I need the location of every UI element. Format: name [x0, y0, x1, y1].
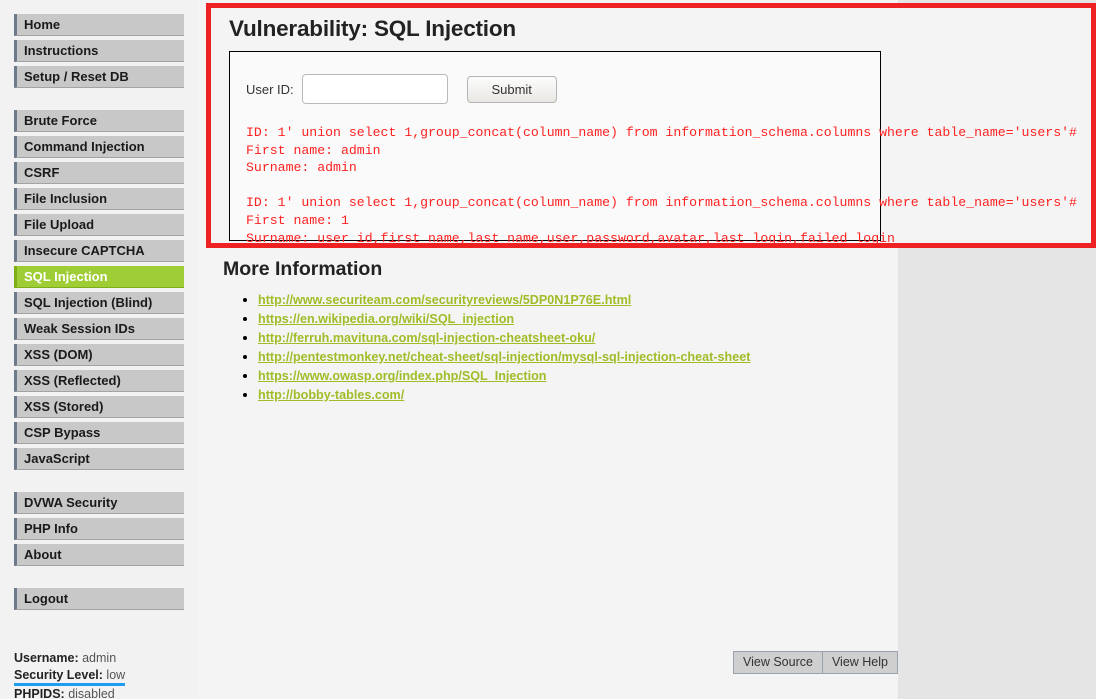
sidebar-item-xss-dom[interactable]: XSS (DOM): [14, 344, 184, 366]
output-line: ID: 1' union select 1,group_concat(colum…: [246, 124, 1096, 142]
sidebar-item-label: JavaScript: [24, 451, 90, 466]
output-line: ID: 1' union select 1,group_concat(colum…: [246, 194, 1096, 212]
security-level-label: Security Level:: [14, 668, 103, 682]
sidebar-item-javascript[interactable]: JavaScript: [14, 448, 184, 470]
sidebar-item-label: Brute Force: [24, 113, 97, 128]
list-item: https://www.owasp.org/index.php/SQL_Inje…: [258, 367, 896, 385]
sidebar-item-dvwa-security[interactable]: DVWA Security: [14, 492, 184, 514]
username-row: Username: admin: [14, 650, 125, 667]
sidebar-item-label: Setup / Reset DB: [24, 69, 129, 84]
list-item: http://www.securiteam.com/securityreview…: [258, 291, 896, 309]
main-content: Vulnerability: SQL Injection User ID: Su…: [198, 0, 898, 699]
action-button-group: View Source View Help: [733, 651, 898, 674]
sidebar-group: Brute ForceCommand InjectionCSRFFile Inc…: [0, 110, 198, 470]
sidebar-item-label: Command Injection: [24, 139, 145, 154]
sidebar-item-about[interactable]: About: [14, 544, 184, 566]
sidebar-item-instructions[interactable]: Instructions: [14, 40, 184, 62]
sidebar-menu: HomeInstructionsSetup / Reset DBBrute Fo…: [0, 0, 198, 610]
session-info: Username: admin Security Level: low PHPI…: [14, 650, 125, 699]
output-line: First name: admin: [246, 142, 1096, 160]
reference-link[interactable]: http://www.securiteam.com/securityreview…: [258, 293, 631, 307]
user-id-input[interactable]: [302, 74, 448, 104]
sidebar-group: DVWA SecurityPHP InfoAbout: [0, 492, 198, 566]
sql-injection-output: ID: 1' union select 1,group_concat(colum…: [246, 124, 1096, 247]
page-title: Vulnerability: SQL Injection: [229, 16, 1091, 42]
sidebar-item-csp-bypass[interactable]: CSP Bypass: [14, 422, 184, 444]
security-level-value: low: [106, 668, 125, 682]
list-item: https://en.wikipedia.org/wiki/SQL_inject…: [258, 310, 896, 328]
user-id-form: User ID: Submit: [230, 52, 880, 104]
view-help-button[interactable]: View Help: [823, 651, 898, 674]
sidebar-item-sql-injection[interactable]: SQL Injection: [14, 266, 184, 288]
username-label: Username:: [14, 651, 79, 665]
sidebar-item-insecure-captcha[interactable]: Insecure CAPTCHA: [14, 240, 184, 262]
sidebar-item-label: File Inclusion: [24, 191, 107, 206]
phpids-value: disabled: [68, 687, 115, 699]
more-information-heading: More Information: [223, 258, 896, 281]
reference-link[interactable]: http://bobby-tables.com/: [258, 388, 404, 402]
output-line: Surname: admin: [246, 159, 1096, 177]
reference-link[interactable]: http://ferruh.mavituna.com/sql-injection…: [258, 331, 595, 345]
sidebar-item-csrf[interactable]: CSRF: [14, 162, 184, 184]
output-line: Surname: user_id,first_name,last_name,us…: [246, 230, 1096, 248]
sidebar-item-logout[interactable]: Logout: [14, 588, 184, 610]
sidebar-item-xss-stored[interactable]: XSS (Stored): [14, 396, 184, 418]
sidebar-item-home[interactable]: Home: [14, 14, 184, 36]
sidebar-item-label: CSRF: [24, 165, 59, 180]
sidebar-item-file-inclusion[interactable]: File Inclusion: [14, 188, 184, 210]
output-blank-line: [246, 177, 1096, 195]
sidebar-item-brute-force[interactable]: Brute Force: [14, 110, 184, 132]
sidebar-item-label: DVWA Security: [24, 495, 117, 510]
vulnerability-panel: Vulnerability: SQL Injection User ID: Su…: [206, 3, 1096, 248]
sidebar-item-label: Insecure CAPTCHA: [24, 243, 145, 258]
sidebar-item-label: Instructions: [24, 43, 98, 58]
sidebar-item-file-upload[interactable]: File Upload: [14, 214, 184, 236]
reference-link[interactable]: https://en.wikipedia.org/wiki/SQL_inject…: [258, 312, 514, 326]
dvwa-page: HomeInstructionsSetup / Reset DBBrute Fo…: [0, 0, 1096, 699]
output-line: First name: 1: [246, 212, 1096, 230]
reference-link[interactable]: https://www.owasp.org/index.php/SQL_Inje…: [258, 369, 547, 383]
list-item: http://bobby-tables.com/: [258, 386, 896, 404]
sidebar-item-label: Logout: [24, 591, 68, 606]
sidebar-group: HomeInstructionsSetup / Reset DB: [0, 0, 198, 88]
sidebar-item-setup-reset-db[interactable]: Setup / Reset DB: [14, 66, 184, 88]
user-id-label: User ID:: [246, 82, 294, 97]
sidebar-item-label: XSS (DOM): [24, 347, 93, 362]
view-source-button[interactable]: View Source: [733, 651, 823, 674]
sidebar-item-label: CSP Bypass: [24, 425, 100, 440]
sidebar-item-php-info[interactable]: PHP Info: [14, 518, 184, 540]
security-level-row: Security Level: low: [14, 667, 125, 687]
submit-button[interactable]: Submit: [467, 76, 557, 103]
more-information-section: More Information http://www.securiteam.c…: [216, 258, 896, 405]
list-item: http://pentestmonkey.net/cheat-sheet/sql…: [258, 348, 896, 366]
phpids-row: PHPIDS: disabled: [14, 686, 125, 699]
sidebar-item-sql-injection-blind[interactable]: SQL Injection (Blind): [14, 292, 184, 314]
sidebar-item-weak-session-ids[interactable]: Weak Session IDs: [14, 318, 184, 340]
sidebar-item-label: About: [24, 547, 62, 562]
sidebar-item-label: SQL Injection (Blind): [24, 295, 152, 310]
reference-link-list: http://www.securiteam.com/securityreview…: [216, 291, 896, 404]
phpids-label: PHPIDS:: [14, 687, 65, 699]
sidebar-item-xss-reflected[interactable]: XSS (Reflected): [14, 370, 184, 392]
sidebar-item-label: PHP Info: [24, 521, 78, 536]
sidebar-item-label: Home: [24, 17, 60, 32]
username-value: admin: [82, 651, 116, 665]
sidebar-group: Logout: [0, 588, 198, 610]
sidebar: HomeInstructionsSetup / Reset DBBrute Fo…: [0, 0, 198, 699]
sidebar-item-label: Weak Session IDs: [24, 321, 135, 336]
sidebar-item-label: File Upload: [24, 217, 94, 232]
sidebar-item-command-injection[interactable]: Command Injection: [14, 136, 184, 158]
sidebar-item-label: XSS (Reflected): [24, 373, 121, 388]
sidebar-item-label: SQL Injection: [24, 269, 108, 284]
list-item: http://ferruh.mavituna.com/sql-injection…: [258, 329, 896, 347]
reference-link[interactable]: http://pentestmonkey.net/cheat-sheet/sql…: [258, 350, 750, 364]
sidebar-item-label: XSS (Stored): [24, 399, 103, 414]
security-level-highlight: Security Level: low: [14, 667, 125, 687]
vulnerability-form-box: User ID: Submit ID: 1' union select 1,gr…: [229, 51, 881, 241]
